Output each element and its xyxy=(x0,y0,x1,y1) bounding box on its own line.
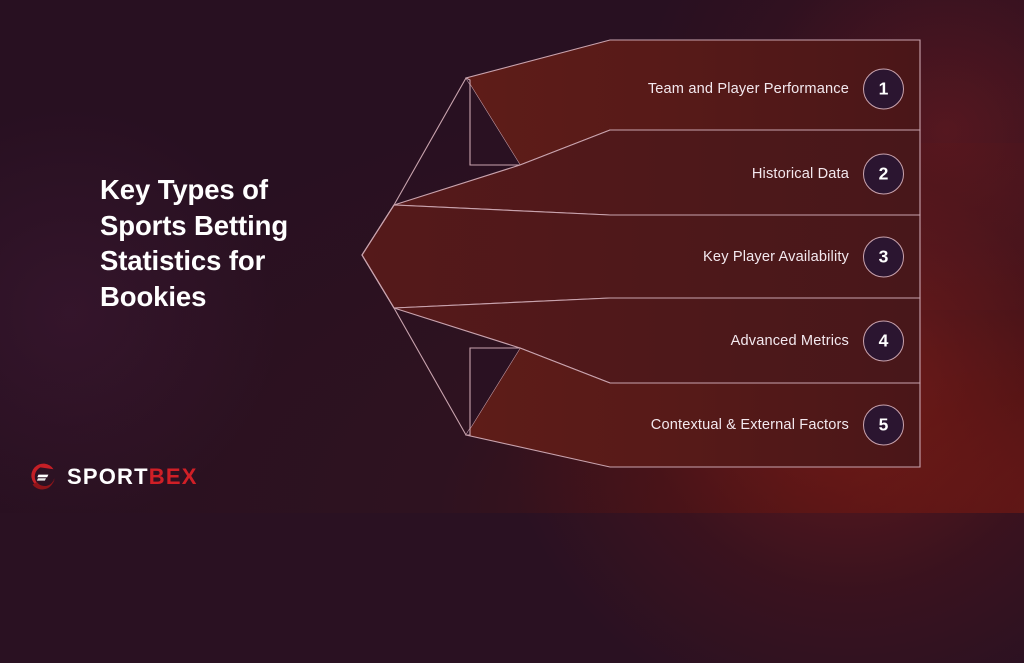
page-title-line-4: Bookies xyxy=(100,279,362,315)
item-number-badge-5[interactable]: 5 xyxy=(863,405,904,446)
page-title-line-1: Key Types of xyxy=(100,172,362,208)
item-number-badge-1[interactable]: 1 xyxy=(863,69,904,110)
item-label-3: Key Player Availability xyxy=(429,249,849,265)
item-label-2: Historical Data xyxy=(429,166,849,182)
item-label-5: Contextual & External Factors xyxy=(429,417,849,433)
logo-text-primary: SPORT xyxy=(67,464,149,489)
logo-text-accent: BEX xyxy=(149,464,198,489)
item-label-4: Advanced Metrics xyxy=(429,333,849,349)
item-label-1: Team and Player Performance xyxy=(429,81,849,97)
item-number-badge-4[interactable]: 4 xyxy=(863,321,904,362)
logo-wordmark: SPORTBEX xyxy=(67,464,198,490)
logo[interactable]: SPORTBEX xyxy=(28,462,198,492)
page-title-line-2: Sports Betting xyxy=(100,208,362,244)
page-title-line-3: Statistics for xyxy=(100,243,362,279)
sportbex-swoosh-icon xyxy=(28,462,58,492)
item-number-badge-2[interactable]: 2 xyxy=(863,154,904,195)
page-title: Key Types of Sports Betting Statistics f… xyxy=(100,172,362,314)
item-number-badge-3[interactable]: 3 xyxy=(863,237,904,278)
